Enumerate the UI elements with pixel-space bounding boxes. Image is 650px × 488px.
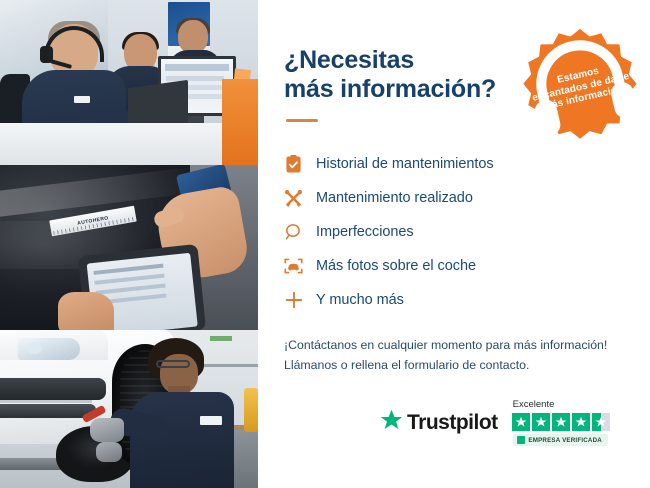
- uniform-logo: [200, 416, 222, 425]
- contact-paragraph-line-2: Llámanos o rellena el formulario de cont…: [284, 358, 529, 372]
- headline-line-1: ¿Necesitas: [284, 46, 414, 74]
- clipboard-check-icon: [284, 155, 303, 174]
- star-half: [592, 413, 610, 431]
- tools-icon: [284, 189, 303, 208]
- trustpilot-star-icon: [380, 409, 403, 436]
- agent-3-head: [178, 20, 208, 54]
- magnifier-icon: [284, 223, 303, 242]
- title-divider: [286, 119, 318, 122]
- trustpilot-logo[interactable]: Trustpilot: [380, 409, 498, 436]
- work-glove-2: [96, 442, 122, 462]
- feature-label: Y mucho más: [316, 292, 404, 308]
- trustpilot-rating: Excelente: [512, 399, 610, 446]
- info-panel: AUTOHERO: [0, 0, 650, 488]
- star-filled: [512, 413, 530, 431]
- rating-label: Excelente: [513, 399, 555, 410]
- work-glove: [90, 418, 124, 442]
- car-grille-upper: [0, 378, 106, 400]
- feature-item-more-photos: Más fotos sobre el coche: [284, 252, 628, 280]
- mechanic: [126, 338, 236, 488]
- orange-prop-1: [222, 79, 258, 165]
- photo-column: AUTOHERO: [0, 0, 258, 488]
- star-filled: [552, 413, 570, 431]
- feature-label: Historial de mantenimientos: [316, 156, 494, 172]
- car-focus-icon: [284, 257, 303, 276]
- inspector-hand-2: [58, 292, 114, 330]
- headline-line-2: más información?: [284, 75, 496, 103]
- agent-1-name-badge: [74, 96, 90, 103]
- contact-paragraph-line-1: ¡Contáctanos en cualquier momento para m…: [284, 338, 607, 352]
- star-rating: [512, 413, 610, 431]
- verified-badge: EMPRESA VERIFICADA: [513, 434, 608, 446]
- feature-item-imperfections: Imperfecciones: [284, 218, 628, 246]
- verified-label: EMPRESA VERIFICADA: [528, 437, 602, 444]
- feature-label: Imperfecciones: [316, 224, 414, 240]
- star-filled: [532, 413, 550, 431]
- car-inspection-ruler-photo: AUTOHERO: [0, 165, 258, 330]
- plus-icon: [284, 291, 303, 310]
- trustpilot-wordmark: Trustpilot: [407, 411, 498, 435]
- trustpilot-widget[interactable]: Trustpilot Excelente: [380, 399, 610, 446]
- feature-item-much-more: Y mucho más: [284, 286, 628, 314]
- autohero-ruler-brand: AUTOHERO: [77, 215, 109, 226]
- contact-paragraph: ¡Contáctanos en cualquier momento para m…: [284, 336, 628, 376]
- page-title: ¿Necesitas más información?: [284, 46, 524, 104]
- car-headlight: [18, 338, 80, 360]
- feature-label: Más fotos sobre el coche: [316, 258, 476, 274]
- feature-list: Historial de mantenimientos M: [284, 150, 628, 314]
- safety-glasses: [156, 360, 190, 368]
- feature-label: Mantenimiento realizado: [316, 190, 473, 206]
- verified-check-icon: [517, 436, 525, 444]
- star-filled: [572, 413, 590, 431]
- call-center-agents-photo: [0, 0, 258, 165]
- mechanic-wheel-inspection-photo: [0, 330, 258, 488]
- feature-item-maintenance-done: Mantenimiento realizado: [284, 184, 628, 212]
- promo-badge: Estamos encantados de darte más informac…: [522, 26, 638, 142]
- content-area: ¿Necesitas más información? Estamos enca…: [258, 0, 650, 488]
- front-desk: [0, 123, 258, 165]
- feature-item-maintenance-history: Historial de mantenimientos: [284, 150, 628, 178]
- yellow-tool: [244, 388, 258, 432]
